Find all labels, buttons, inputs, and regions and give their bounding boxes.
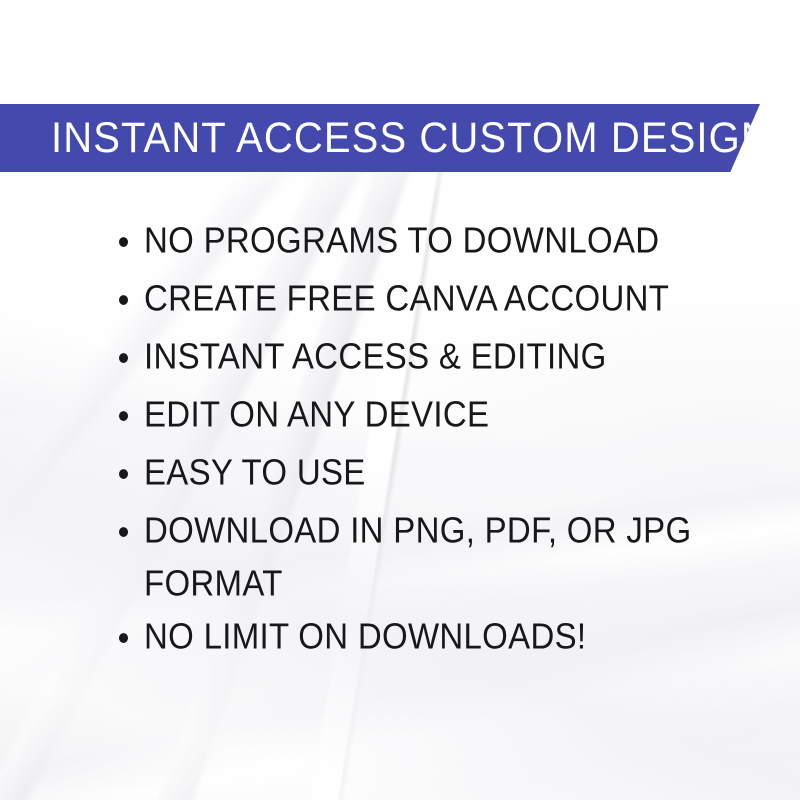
list-item: CREATE FREE CANVA ACCOUNT	[118, 272, 738, 325]
list-item-label: NO LIMIT ON DOWNLOADS!	[144, 616, 586, 657]
list-item: DOWNLOAD IN PNG, PDF, OR JPG FORMAT	[118, 504, 738, 610]
list-item: INSTANT ACCESS & EDITING	[118, 330, 738, 383]
promo-graphic: INSTANT ACCESS CUSTOM DESIGNS NO PROGRAM…	[0, 0, 800, 800]
header-banner: INSTANT ACCESS CUSTOM DESIGNS	[0, 104, 760, 172]
list-item-label: CREATE FREE CANVA ACCOUNT	[144, 278, 669, 319]
page-title: INSTANT ACCESS CUSTOM DESIGNS	[0, 117, 799, 159]
list-item-label: EASY TO USE	[144, 452, 366, 493]
list-item: NO LIMIT ON DOWNLOADS!	[118, 610, 738, 663]
list-item: NO PROGRAMS TO DOWNLOAD	[118, 214, 738, 267]
list-item-label: EDIT ON ANY DEVICE	[144, 394, 489, 435]
list-item: EASY TO USE	[118, 446, 738, 499]
list-item-label: INSTANT ACCESS & EDITING	[144, 336, 607, 377]
list-item-label: NO PROGRAMS TO DOWNLOAD	[144, 220, 659, 261]
list-item: EDIT ON ANY DEVICE	[118, 388, 738, 441]
list-item-label: DOWNLOAD IN PNG, PDF, OR JPG FORMAT	[144, 510, 691, 604]
feature-list: NO PROGRAMS TO DOWNLOAD CREATE FREE CANV…	[118, 214, 738, 658]
